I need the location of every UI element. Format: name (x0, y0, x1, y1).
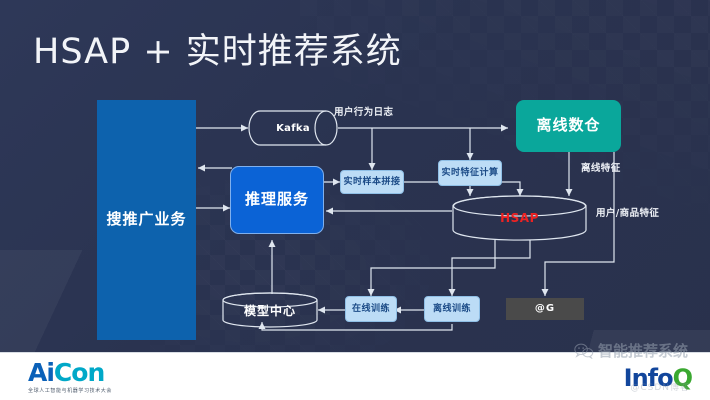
node-label: 实时样本拼接 (343, 177, 400, 187)
node-label: 搜推广业务 (106, 211, 186, 228)
wechat-icon (574, 343, 594, 359)
node-label: 离线训练 (433, 304, 471, 314)
node-model-hub[interactable]: 模型中心 (222, 292, 318, 328)
slide-footer: AiCon 全球人工智能与机器学习技术大会 智能推荐系统 InfoQ @CSDN… (0, 352, 710, 400)
node-kafka[interactable]: Kafka (248, 110, 338, 146)
edge-label-offline-feature: 离线特征 (581, 160, 621, 174)
aicon-subtitle: 全球人工智能与机器学习技术大会 (28, 387, 112, 394)
aicon-wordmark: AiCon (28, 360, 112, 386)
node-label: Kafka (248, 110, 338, 146)
edge-label-user-item-feature: 用户/商品特征 (596, 205, 659, 219)
node-online-training[interactable]: 在线训练 (345, 296, 397, 322)
node-label: HSAP (452, 195, 587, 241)
node-offline-data-warehouse[interactable]: 离线数仓 (516, 100, 621, 152)
node-label: 推理服务 (245, 191, 309, 208)
node-inference-service[interactable]: 推理服务 (230, 166, 324, 234)
node-hsap-store[interactable]: HSAP (452, 195, 587, 241)
node-search-rec-ad-business[interactable]: 搜推广业务 (97, 100, 196, 340)
slide-title: HSAP + 实时推荐系统 (33, 23, 402, 74)
wechat-watermark-text: 智能推荐系统 (598, 340, 688, 361)
node-label: @G (535, 303, 555, 315)
aicon-logo: AiCon 全球人工智能与机器学习技术大会 (28, 360, 112, 394)
node-label: 实时特征计算 (441, 168, 498, 178)
edge-label-user-behavior-log: 用户行为日志 (334, 104, 393, 118)
aicon-word-a: Ai (28, 358, 54, 387)
slide: HSAP + 实时推荐系统 (0, 0, 710, 400)
node-offline-training[interactable]: 离线训练 (424, 296, 480, 322)
node-label: 模型中心 (222, 292, 318, 328)
wechat-watermark: 智能推荐系统 (574, 340, 688, 361)
node-label: 离线数仓 (536, 117, 600, 134)
blog-watermark: @CSDN博客 (630, 380, 690, 393)
node-gray-component[interactable]: @G (506, 298, 584, 320)
node-realtime-feature-compute[interactable]: 实时特征计算 (438, 160, 502, 186)
node-label: 在线训练 (352, 304, 390, 314)
aicon-word-b: Con (54, 358, 104, 387)
node-realtime-sample-join[interactable]: 实时样本拼接 (340, 170, 404, 194)
